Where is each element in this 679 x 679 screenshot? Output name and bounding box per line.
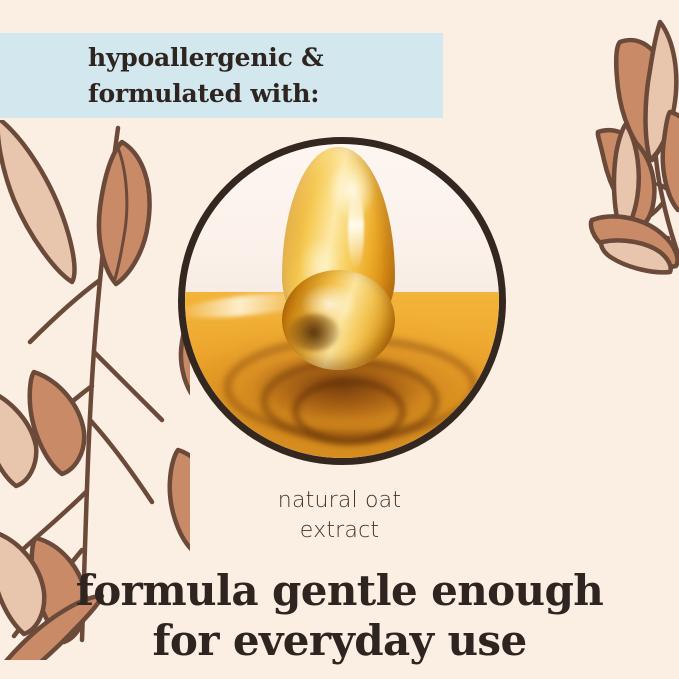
oat-stalk-right-icon xyxy=(558,8,679,338)
ingredient-caption: natural oat extract xyxy=(0,486,679,546)
oil-droplet-image xyxy=(178,137,506,465)
oil-droplet-shadow xyxy=(289,314,339,352)
promo-graphic: hypoallergenic & formulated with: natura… xyxy=(0,0,679,679)
oil-scene xyxy=(185,144,499,458)
bottom-headline: formula gentle enough for everyday use xyxy=(0,566,679,666)
ripple-inner xyxy=(292,378,406,445)
banner-headline: hypoallergenic & formulated with: xyxy=(88,40,488,112)
oil-droplet-highlight xyxy=(348,188,364,270)
